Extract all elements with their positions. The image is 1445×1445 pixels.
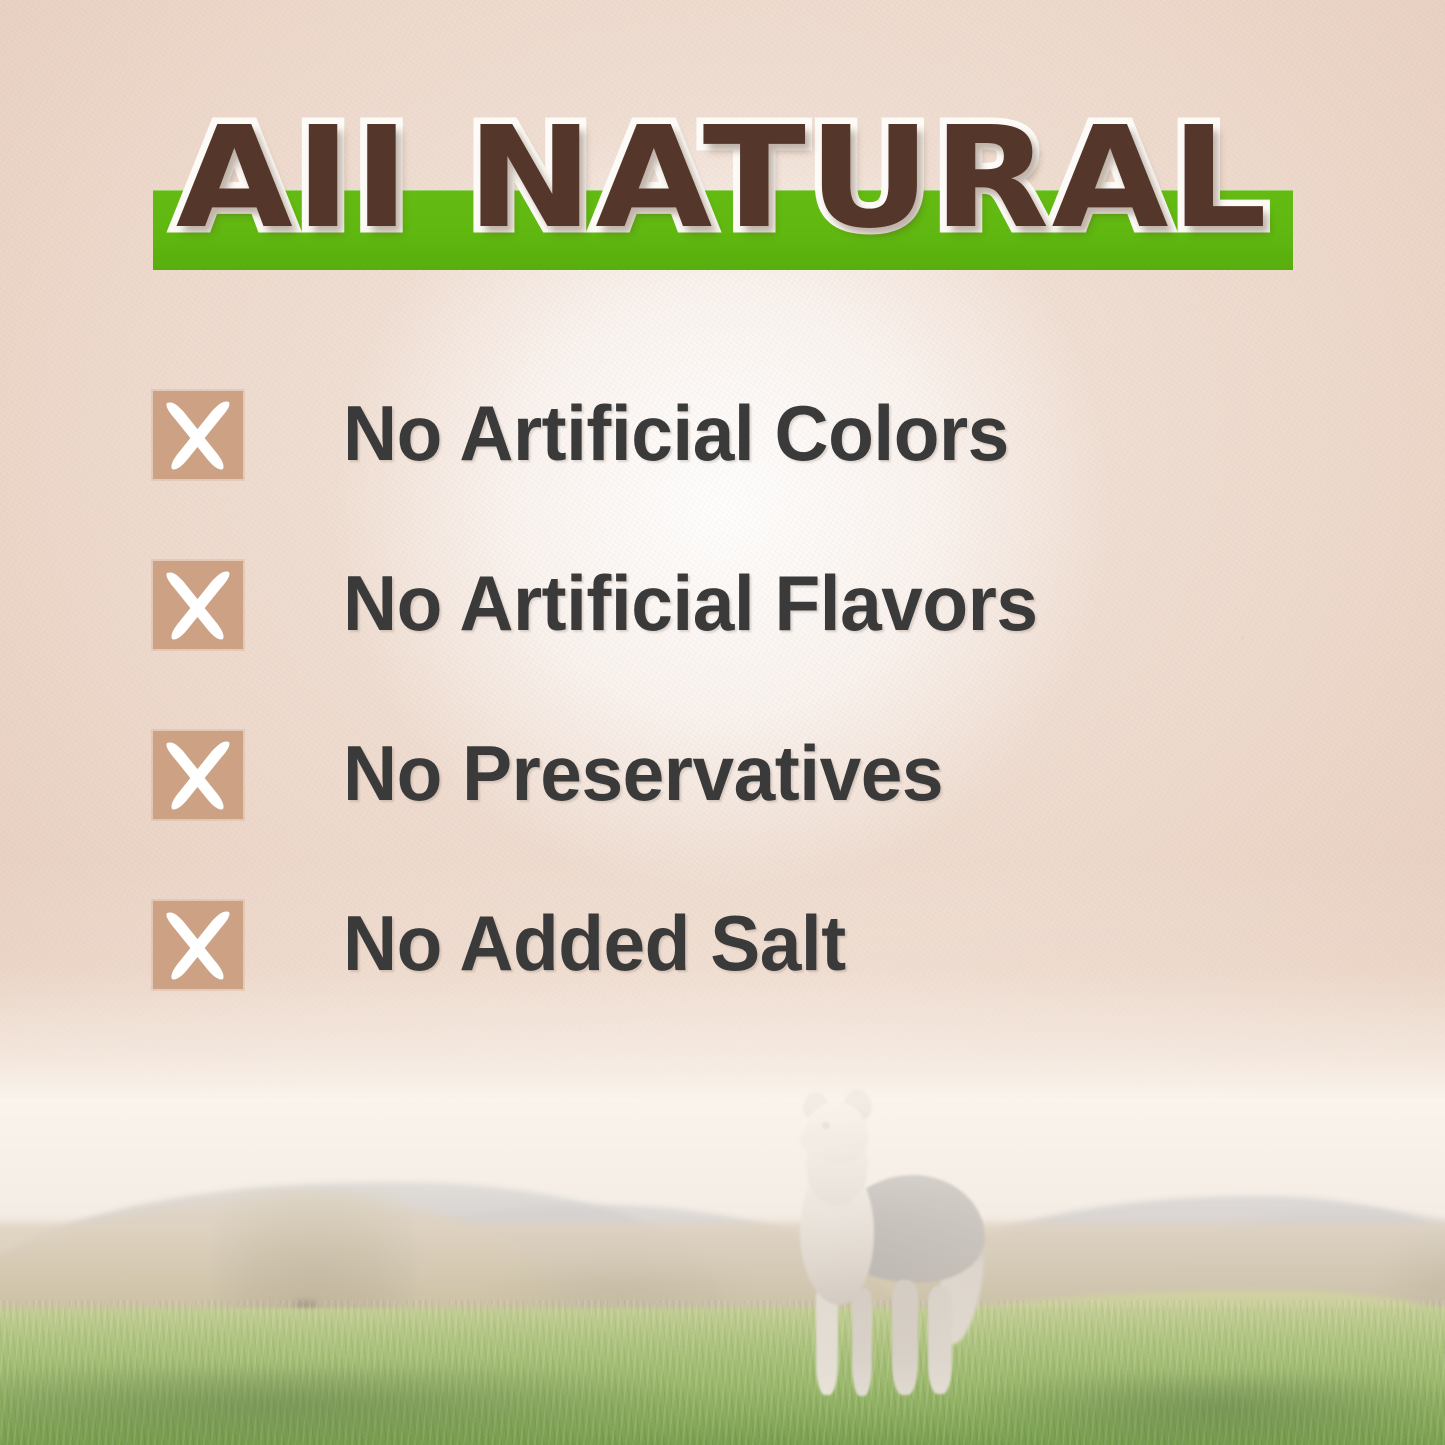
benefits-list: No Artificial Colors No Artificial Flavo… <box>153 381 1333 1061</box>
list-item-label: No Added Salt <box>343 891 846 995</box>
headline-block: AII NATURAL <box>0 104 1445 284</box>
list-item: No Preservatives <box>153 721 1333 891</box>
x-mark-icon <box>153 561 243 649</box>
page-title: AII NATURAL <box>0 104 1445 254</box>
list-item: No Artificial Flavors <box>153 551 1333 721</box>
all-natural-product-poster: AII NATURAL No Artificial Colors <box>0 0 1445 1445</box>
list-item-label: No Artificial Flavors <box>343 551 1038 655</box>
x-mark-icon <box>153 391 243 479</box>
poster-content: AII NATURAL No Artificial Colors <box>0 0 1445 1445</box>
list-item-label: No Artificial Colors <box>343 381 1009 485</box>
list-item-label: No Preservatives <box>343 721 943 825</box>
x-mark-icon <box>153 731 243 819</box>
x-mark-icon <box>153 901 243 989</box>
list-item: No Added Salt <box>153 891 1333 1061</box>
list-item: No Artificial Colors <box>153 381 1333 551</box>
